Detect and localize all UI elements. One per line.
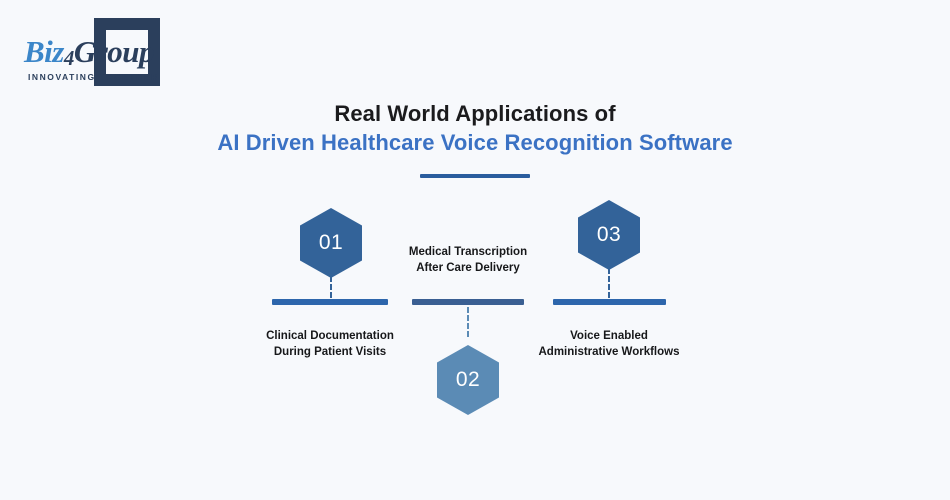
step-number-01: 01 (319, 231, 343, 255)
step-connector-02 (467, 307, 469, 337)
step-bar-02 (412, 299, 524, 305)
step-connector-01 (330, 276, 332, 298)
step-caption-02: Medical Transcription After Care Deliver… (378, 244, 558, 277)
step-caption-01: Clinical Documentation During Patient Vi… (240, 328, 420, 361)
step-badge-01[interactable]: 01 (300, 208, 362, 278)
step-number-02: 02 (456, 368, 480, 392)
step-badge-03[interactable]: 03 (578, 200, 640, 270)
step-badge-02[interactable]: 02 (437, 345, 499, 415)
step-connector-03 (608, 268, 610, 298)
step-number-03: 03 (597, 223, 621, 247)
step-bar-01 (272, 299, 388, 305)
step-caption-03: Voice Enabled Administrative Workflows (518, 328, 700, 361)
steps-diagram: 01 Clinical Documentation During Patient… (0, 0, 950, 500)
step-bar-03 (553, 299, 666, 305)
